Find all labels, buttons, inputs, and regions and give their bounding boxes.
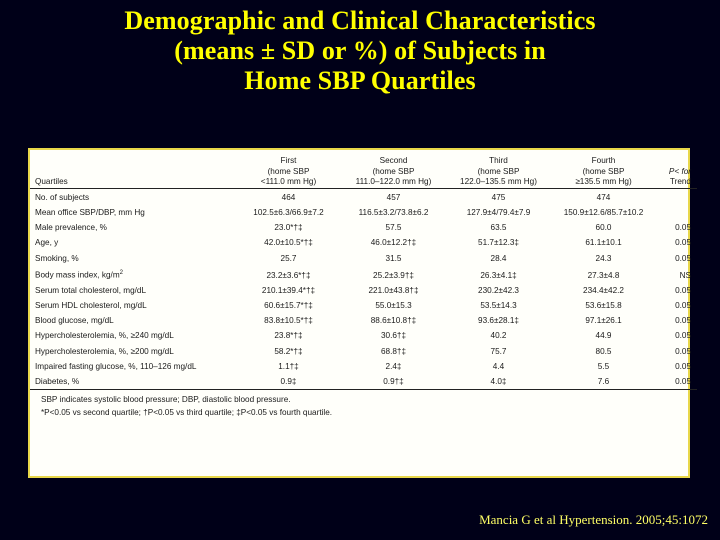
table-cell: 28.4 (446, 251, 551, 266)
table-cell: 116.5±3.2/73.8±6.2 (341, 205, 446, 220)
table-cell: 5.5 (551, 359, 656, 374)
table-cell: 24.3 (551, 251, 656, 266)
page-title: Demographic and Clinical Characteristics… (0, 6, 720, 96)
table-cell: 83.8±10.5*†‡ (236, 313, 341, 328)
table-cell: 44.9 (551, 328, 656, 343)
table-cell: 60.6±15.7*†‡ (236, 298, 341, 313)
p-value-cell: 0.05 (656, 374, 697, 390)
column-header-third-line3: 122.0–135.5 mm Hg) (446, 177, 551, 188)
p-value-cell: 0.05 (656, 359, 697, 374)
table-cell: 0.9†‡ (341, 374, 446, 390)
row-label: Hypercholesterolemia, %, ≥200 mg/dL (30, 344, 236, 359)
table-cell: 150.9±12.6/85.7±10.2 (551, 205, 656, 220)
slide-canvas: Demographic and Clinical Characteristics… (0, 0, 720, 540)
table-cell: 75.7 (446, 344, 551, 359)
table-cell: 55.0±15.3 (341, 298, 446, 313)
table-cell: 0.9‡ (236, 374, 341, 390)
table-cell: 63.5 (446, 220, 551, 235)
table-cell: 61.1±10.1 (551, 235, 656, 250)
column-header-third-line2: (home SBP (446, 167, 551, 178)
row-label: Serum total cholesterol, mg/dL (30, 283, 236, 298)
table-cell: 88.6±10.8†‡ (341, 313, 446, 328)
table-cell: 40.2 (446, 328, 551, 343)
table-cell: 7.6 (551, 374, 656, 390)
row-label: Age, y (30, 235, 236, 250)
title-line-2: (means ± SD or %) of Subjects in (0, 36, 720, 66)
column-header-p-line1: P< for (656, 167, 691, 178)
column-header-second-rank: Second (341, 156, 446, 167)
table-cell: 475 (446, 188, 551, 205)
table-cell: 221.0±43.8†‡ (341, 283, 446, 298)
table-cell: 230.2±42.3 (446, 283, 551, 298)
table-cell: 42.0±10.5*†‡ (236, 235, 341, 250)
table-scroll-region: Quartiles First (home SBP <111.0 mm Hg) … (30, 150, 688, 390)
column-header-first-line2: (home SBP (236, 167, 341, 178)
table-row: Hypercholesterolemia, %, ≥240 mg/dL23.8*… (30, 328, 697, 343)
row-label: Smoking, % (30, 251, 236, 266)
table-cell: 25.2±3.9†‡ (341, 266, 446, 283)
table-cell: 2.4‡ (341, 359, 446, 374)
p-value-cell: 0.05 (656, 344, 697, 359)
table-head: Quartiles First (home SBP <111.0 mm Hg) … (30, 156, 697, 188)
table-row: Mean office SBP/DBP, mm Hg102.5±6.3/66.9… (30, 205, 697, 220)
title-line-3: Home SBP Quartiles (0, 66, 720, 96)
table-cell: 234.4±42.2 (551, 283, 656, 298)
table-cell: 25.7 (236, 251, 341, 266)
table-body: No. of subjects464457475474Mean office S… (30, 188, 697, 389)
table-cell: 23.2±3.6*†‡ (236, 266, 341, 283)
row-label-superscript: 2 (120, 270, 123, 276)
table-cell: 97.1±26.1 (551, 313, 656, 328)
table-row: Serum total cholesterol, mg/dL210.1±39.4… (30, 283, 697, 298)
p-value-cell: 0.05 (656, 283, 697, 298)
table-cell: 23.0*†‡ (236, 220, 341, 235)
p-value-cell: 0.05 (656, 313, 697, 328)
p-value-cell (656, 188, 697, 205)
column-header-quartiles: Quartiles (30, 156, 236, 188)
p-value-cell (656, 205, 697, 220)
title-line-1: Demographic and Clinical Characteristics (0, 6, 720, 36)
table-cell: 60.0 (551, 220, 656, 235)
table-cell: 57.5 (341, 220, 446, 235)
p-value-cell: 0.05 (656, 251, 697, 266)
table-header-row: Quartiles First (home SBP <111.0 mm Hg) … (30, 156, 697, 188)
source-citation: Mancia G et al Hypertension. 2005;45:107… (479, 512, 708, 528)
row-label: Diabetes, % (30, 374, 236, 390)
p-value-cell: 0.05 (656, 235, 697, 250)
column-header-p-line2: Trend (656, 177, 691, 188)
column-header-first-rank: First (236, 156, 341, 167)
column-header-p-trend: P< for Trend (656, 156, 697, 188)
table-cell: 102.5±6.3/66.9±7.2 (236, 205, 341, 220)
table-cell: 26.3±4.1‡ (446, 266, 551, 283)
footnote-significance: *P<0.05 vs second quartile; †P<0.05 vs t… (41, 407, 680, 419)
row-label: Blood glucose, mg/dL (30, 313, 236, 328)
table-row: Hypercholesterolemia, %, ≥200 mg/dL58.2*… (30, 344, 697, 359)
table-cell: 53.6±15.8 (551, 298, 656, 313)
characteristics-table: Quartiles First (home SBP <111.0 mm Hg) … (30, 156, 697, 390)
table-cell: 46.0±12.2†‡ (341, 235, 446, 250)
column-header-third: Third (home SBP 122.0–135.5 mm Hg) (446, 156, 551, 188)
p-value-cell: NS (656, 266, 697, 283)
row-label: Body mass index, kg/m2 (30, 266, 236, 283)
column-header-fourth: Fourth (home SBP ≥135.5 mm Hg) (551, 156, 656, 188)
table-cell: 93.6±28.1‡ (446, 313, 551, 328)
data-table-card: Quartiles First (home SBP <111.0 mm Hg) … (28, 148, 690, 478)
table-cell: 4.4 (446, 359, 551, 374)
table-cell: 51.7±12.3‡ (446, 235, 551, 250)
column-header-third-rank: Third (446, 156, 551, 167)
table-row: Impaired fasting glucose, %, 110–126 mg/… (30, 359, 697, 374)
p-value-cell: 0.05 (656, 328, 697, 343)
column-header-fourth-line2: (home SBP (551, 167, 656, 178)
table-row: Serum HDL cholesterol, mg/dL60.6±15.7*†‡… (30, 298, 697, 313)
table-cell: 457 (341, 188, 446, 205)
column-header-first-line3: <111.0 mm Hg) (236, 177, 341, 188)
table-row: Smoking, %25.731.528.424.30.05 (30, 251, 697, 266)
table-cell: 210.1±39.4*†‡ (236, 283, 341, 298)
row-label: Hypercholesterolemia, %, ≥240 mg/dL (30, 328, 236, 343)
table-row: Diabetes, %0.9‡0.9†‡4.0‡7.60.05 (30, 374, 697, 390)
column-header-first: First (home SBP <111.0 mm Hg) (236, 156, 341, 188)
table-row: Male prevalence, %23.0*†‡57.563.560.00.0… (30, 220, 697, 235)
table-cell: 474 (551, 188, 656, 205)
table-cell: 1.1†‡ (236, 359, 341, 374)
table-cell: 68.8†‡ (341, 344, 446, 359)
p-value-cell: 0.05 (656, 298, 697, 313)
p-value-cell: 0.05 (656, 220, 697, 235)
row-label: Mean office SBP/DBP, mm Hg (30, 205, 236, 220)
table-cell: 4.0‡ (446, 374, 551, 390)
table-cell: 58.2*†‡ (236, 344, 341, 359)
column-header-second: Second (home SBP 111.0–122.0 mm Hg) (341, 156, 446, 188)
table-row: No. of subjects464457475474 (30, 188, 697, 205)
table-cell: 127.9±4/79.4±7.9 (446, 205, 551, 220)
table-cell: 53.5±14.3 (446, 298, 551, 313)
column-header-second-line2: (home SBP (341, 167, 446, 178)
column-header-fourth-rank: Fourth (551, 156, 656, 167)
footnote-abbreviations: SBP indicates systolic blood pressure; D… (41, 394, 680, 406)
column-header-second-line3: 111.0–122.0 mm Hg) (341, 177, 446, 188)
column-header-fourth-line3: ≥135.5 mm Hg) (551, 177, 656, 188)
table-cell: 464 (236, 188, 341, 205)
table-cell: 23.8*†‡ (236, 328, 341, 343)
row-label: No. of subjects (30, 188, 236, 205)
table-row: Body mass index, kg/m223.2±3.6*†‡25.2±3.… (30, 266, 697, 283)
table-cell: 30.6†‡ (341, 328, 446, 343)
table-row: Blood glucose, mg/dL83.8±10.5*†‡88.6±10.… (30, 313, 697, 328)
table-cell: 27.3±4.8 (551, 266, 656, 283)
table-cell: 31.5 (341, 251, 446, 266)
table-footnotes: SBP indicates systolic blood pressure; D… (30, 394, 688, 419)
row-label: Impaired fasting glucose, %, 110–126 mg/… (30, 359, 236, 374)
row-label: Serum HDL cholesterol, mg/dL (30, 298, 236, 313)
table-cell: 80.5 (551, 344, 656, 359)
row-label: Male prevalence, % (30, 220, 236, 235)
table-row: Age, y42.0±10.5*†‡46.0±12.2†‡51.7±12.3‡6… (30, 235, 697, 250)
